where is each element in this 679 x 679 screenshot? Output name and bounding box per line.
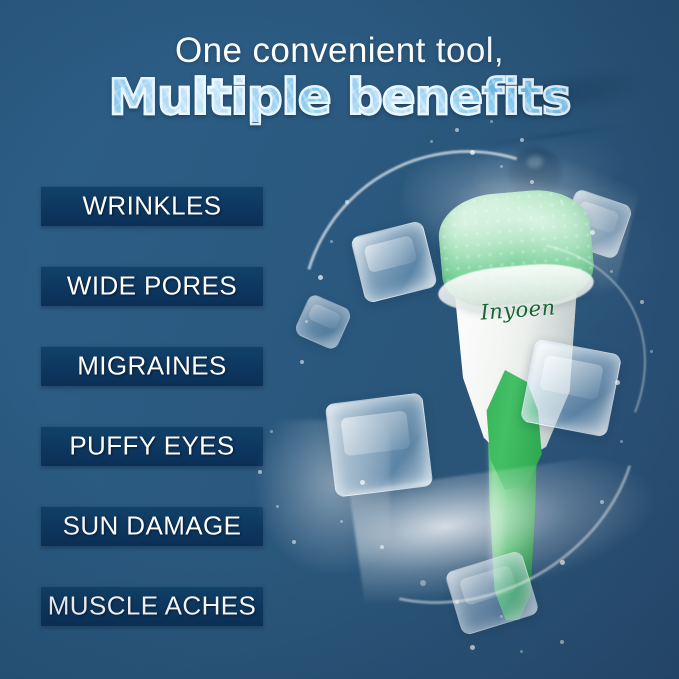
product-marketing-image: One convenient tool, Multiple benefits W… <box>0 0 679 679</box>
vignette-overlay <box>0 0 679 679</box>
